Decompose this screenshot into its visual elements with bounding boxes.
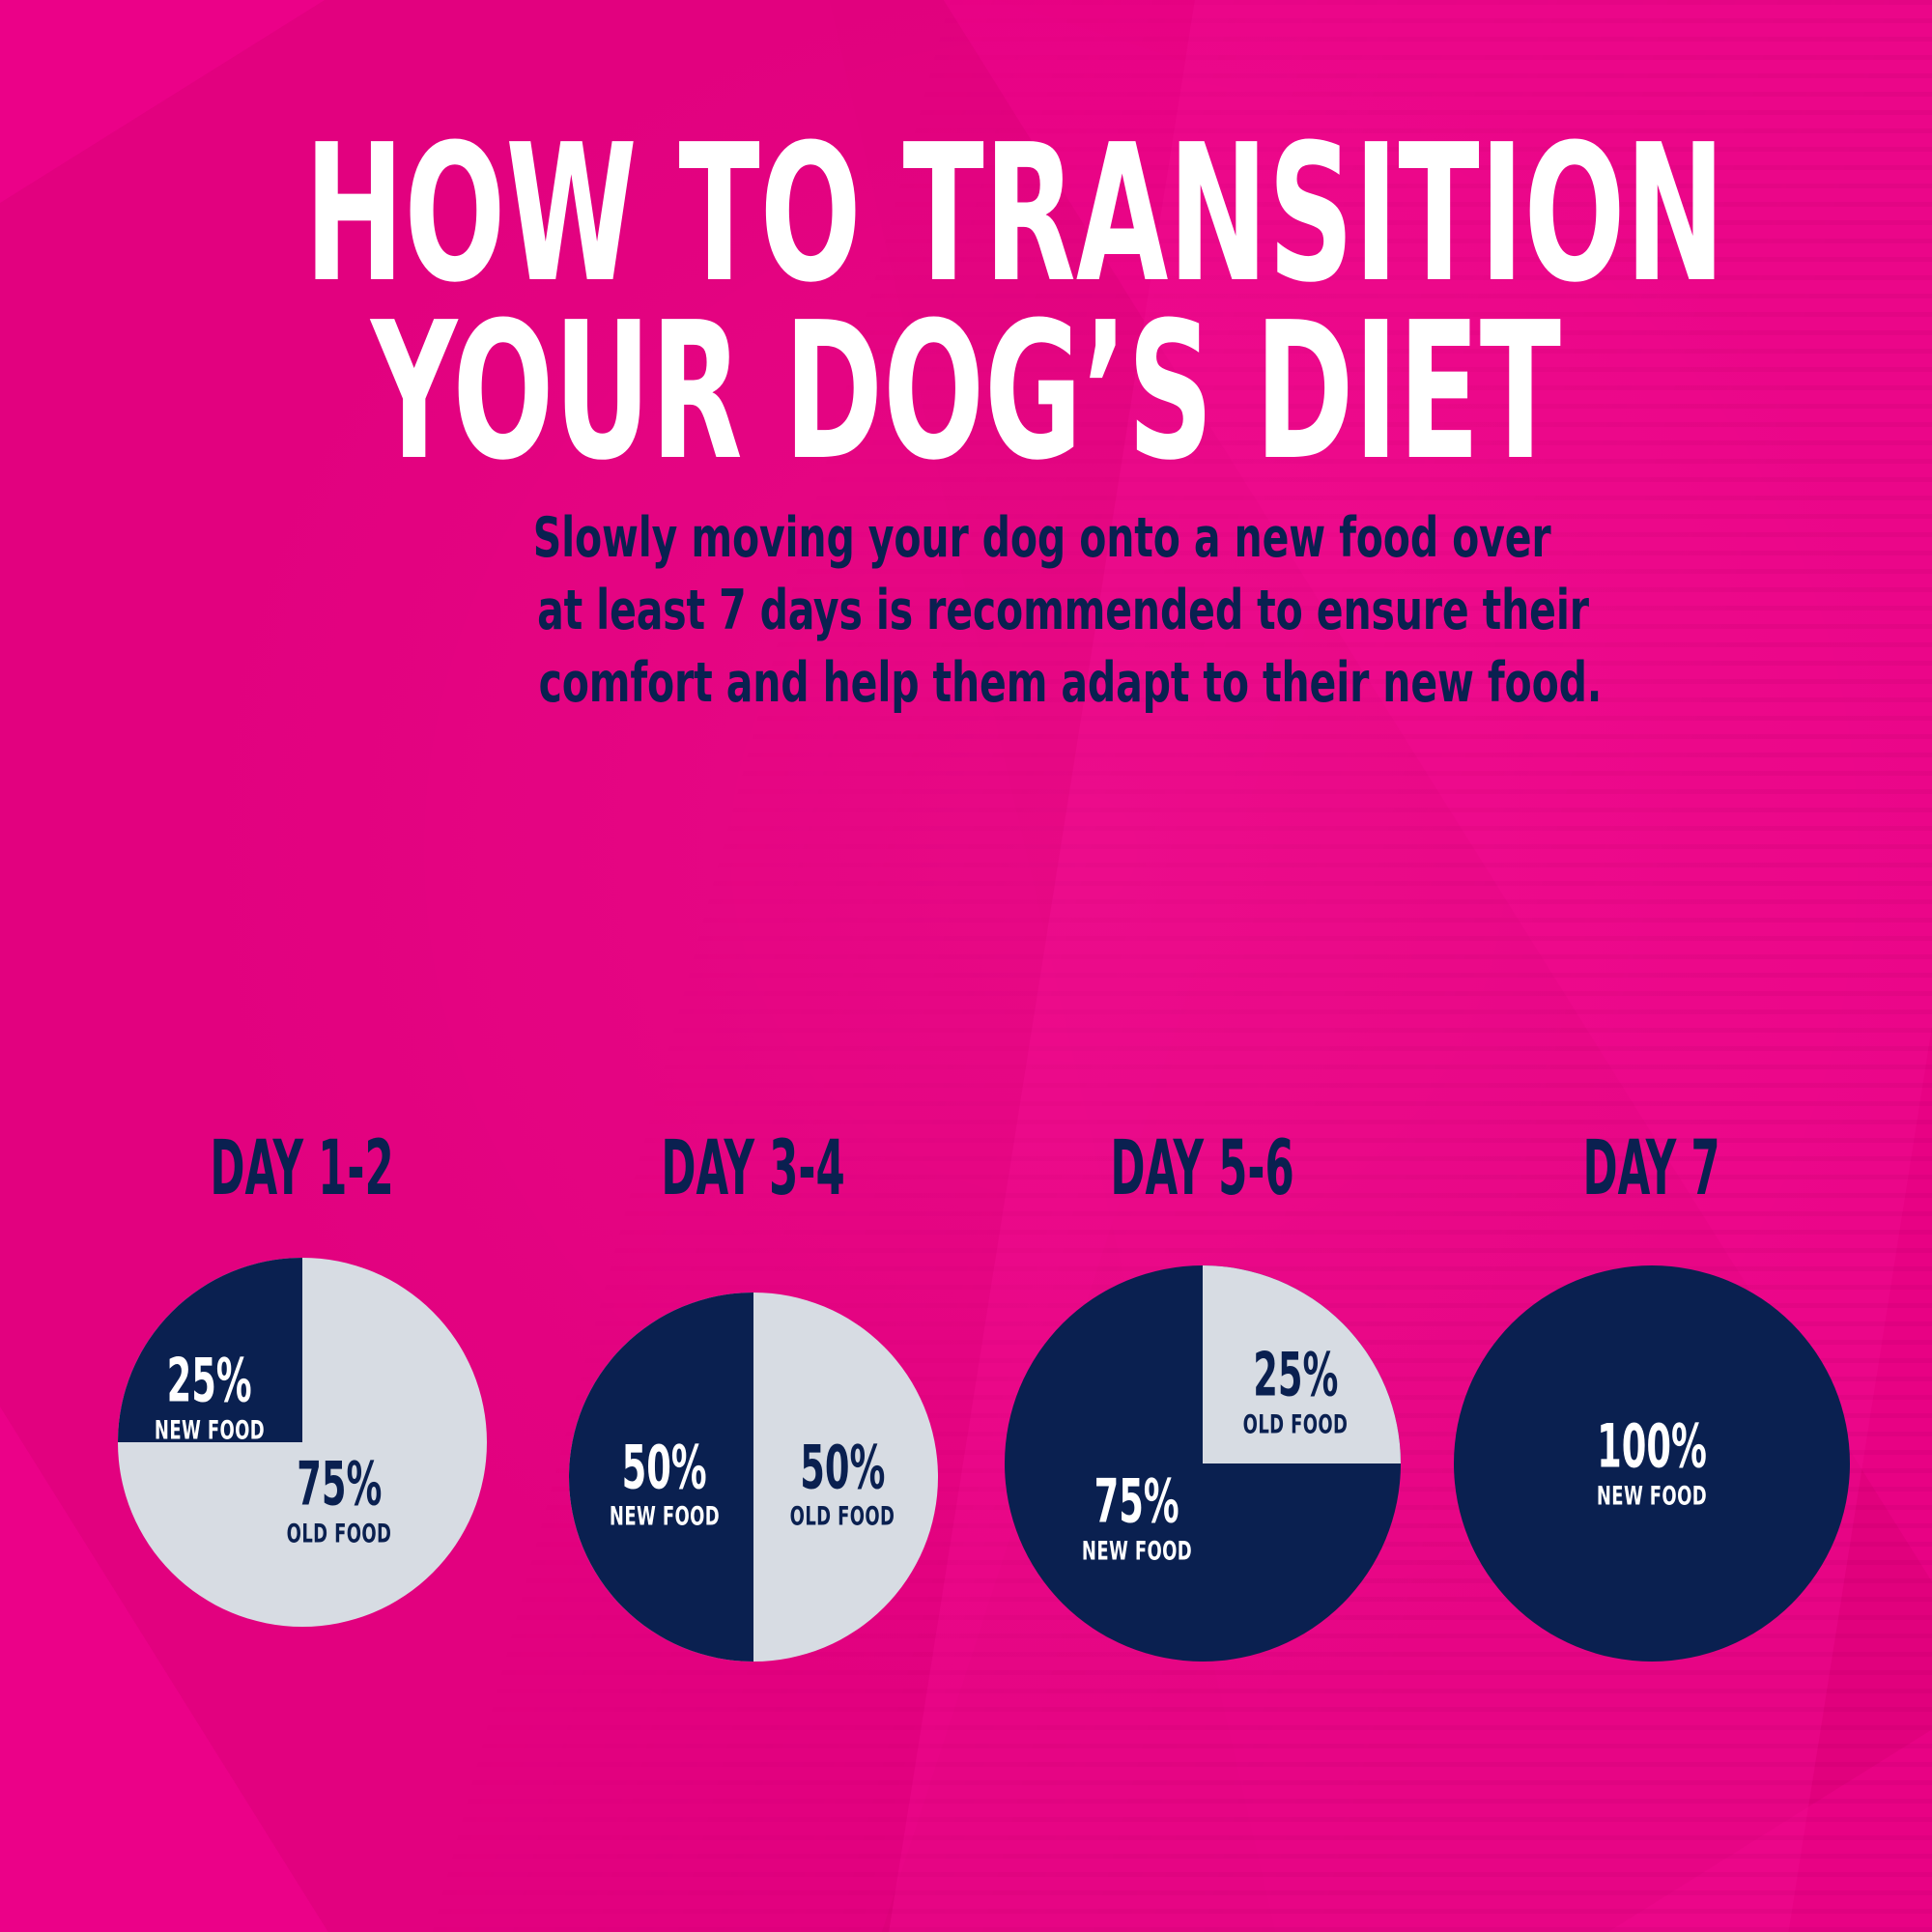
pie-name-new-food-day-5-6: NEW FOOD <box>1063 1539 1211 1565</box>
intro-paragraph: Slowly moving your dog onto a new food o… <box>406 502 1526 721</box>
pie-name-old-food-day-5-6-text: OLD FOOD <box>1243 1411 1349 1437</box>
pie-pct-new-food-day-3-4: 50% <box>590 1438 739 1497</box>
pie-name-new-food-day-1-2-text: NEW FOOD <box>155 1417 265 1443</box>
pie-pct-new-food-day-3-4-text: 50% <box>622 1438 707 1496</box>
pie-name-new-food-day-7: NEW FOOD <box>1569 1483 1735 1509</box>
pie-pct-old-food-day-1-2: 75% <box>269 1456 411 1515</box>
pie-name-new-food-day-5-6-text: NEW FOOD <box>1082 1539 1192 1565</box>
pie-label-old-food-day-3-4: 50% OLD FOOD <box>772 1438 914 1530</box>
pie-pct-new-food-day-1-2-text: 25% <box>167 1352 252 1410</box>
day-label-3: DAY 5-6 <box>980 1130 1425 1223</box>
day-label-2-text: DAY 3-4 <box>662 1131 845 1207</box>
day-label-1-text: DAY 1-2 <box>211 1131 394 1207</box>
intro-line-3-text: comfort and help them adapt to their new… <box>539 647 1603 720</box>
title-line-1-text: HOW TO TRANSITION <box>304 126 1725 303</box>
title-line-2-text: YOUR DOG’S DIET <box>371 303 1561 481</box>
intro-line-1: Slowly moving your dog onto a new food o… <box>406 502 1526 575</box>
pie-label-old-food-day-5-6: 25% OLD FOOD <box>1225 1347 1367 1438</box>
pie-name-new-food-day-7-text: NEW FOOD <box>1597 1483 1707 1509</box>
pie-pct-new-food-day-5-6-text: 75% <box>1094 1473 1179 1531</box>
pie-pct-new-food-day-7: 100% <box>1569 1418 1735 1477</box>
pie-name-old-food-day-5-6: OLD FOOD <box>1225 1411 1367 1437</box>
pie-pct-new-food-day-7-text: 100% <box>1597 1418 1707 1476</box>
title-line-2: YOUR DOG’S DIET <box>0 303 1932 481</box>
intro-line-1-text: Slowly moving your dog onto a new food o… <box>533 502 1551 575</box>
infographic-canvas: HOW TO TRANSITION YOUR DOG’S DIET Slowly… <box>0 0 1932 1932</box>
pie-label-old-food-day-1-2: 75% OLD FOOD <box>269 1456 411 1548</box>
pie-name-old-food-day-3-4-text: OLD FOOD <box>790 1504 895 1530</box>
pie-wrap-day-7: 100% NEW FOOD <box>1430 1265 1874 1662</box>
chart-column-day-7: DAY 7 100% NEW FOOD <box>1430 1130 1874 1662</box>
pie-name-old-food-day-1-2-text: OLD FOOD <box>287 1520 392 1547</box>
title-line-1: HOW TO TRANSITION <box>0 126 1932 303</box>
pie-name-new-food-day-3-4-text: NEW FOOD <box>610 1504 720 1530</box>
pie-pct-new-food-day-1-2: 25% <box>135 1352 284 1411</box>
intro-line-3: comfort and help them adapt to their new… <box>406 647 1526 720</box>
day-label-2: DAY 3-4 <box>531 1130 976 1223</box>
pie-pct-old-food-day-3-4: 50% <box>772 1438 914 1497</box>
pie-pct-old-food-day-5-6-text: 25% <box>1253 1347 1338 1405</box>
day-label-1: DAY 1-2 <box>80 1130 525 1223</box>
pie-name-new-food-day-3-4: NEW FOOD <box>590 1504 739 1530</box>
pie-label-new-food-day-3-4: 50% NEW FOOD <box>590 1438 739 1530</box>
pie-label-new-food-day-7: 100% NEW FOOD <box>1569 1418 1735 1510</box>
pie-wrap-day-1-2: 25% NEW FOOD 75% OLD FOOD <box>80 1258 525 1627</box>
pie-chart-day-5-6 <box>1005 1265 1401 1662</box>
chart-column-day-1-2: DAY 1-2 25% NEW FOOD 75% OLD FOOD <box>80 1130 525 1627</box>
pie-name-old-food-day-1-2: OLD FOOD <box>269 1520 411 1547</box>
day-label-4: DAY 7 <box>1430 1130 1874 1223</box>
pie-name-old-food-day-3-4: OLD FOOD <box>772 1504 914 1530</box>
pie-pct-old-food-day-5-6: 25% <box>1225 1347 1367 1406</box>
chart-column-day-5-6: DAY 5-6 25% OLD FOOD 75% NEW FOOD <box>980 1130 1425 1662</box>
day-label-3-text: DAY 5-6 <box>1111 1131 1294 1207</box>
pie-pct-old-food-day-1-2-text: 75% <box>297 1456 382 1514</box>
pie-name-new-food-day-1-2: NEW FOOD <box>135 1417 284 1443</box>
chart-column-day-3-4: DAY 3-4 50% NEW FOOD 50% OLD FOOD <box>531 1130 976 1662</box>
pie-wrap-day-5-6: 25% OLD FOOD 75% NEW FOOD <box>980 1265 1425 1662</box>
pie-pct-new-food-day-5-6: 75% <box>1063 1473 1211 1532</box>
pie-label-new-food-day-1-2: 25% NEW FOOD <box>135 1352 284 1444</box>
page-title: HOW TO TRANSITION YOUR DOG’S DIET <box>0 126 1932 481</box>
intro-line-2: at least 7 days is recommended to ensure… <box>406 575 1526 647</box>
pie-pct-old-food-day-3-4-text: 50% <box>800 1438 885 1496</box>
pie-chart-row: DAY 1-2 25% NEW FOOD 75% OLD FOOD DAY 3-… <box>0 1130 1932 1710</box>
pie-label-new-food-day-5-6: 75% NEW FOOD <box>1063 1473 1211 1565</box>
day-label-4-text: DAY 7 <box>1583 1131 1720 1207</box>
pie-wrap-day-3-4: 50% NEW FOOD 50% OLD FOOD <box>531 1293 976 1662</box>
intro-line-2-text: at least 7 days is recommended to ensure… <box>537 575 1589 647</box>
